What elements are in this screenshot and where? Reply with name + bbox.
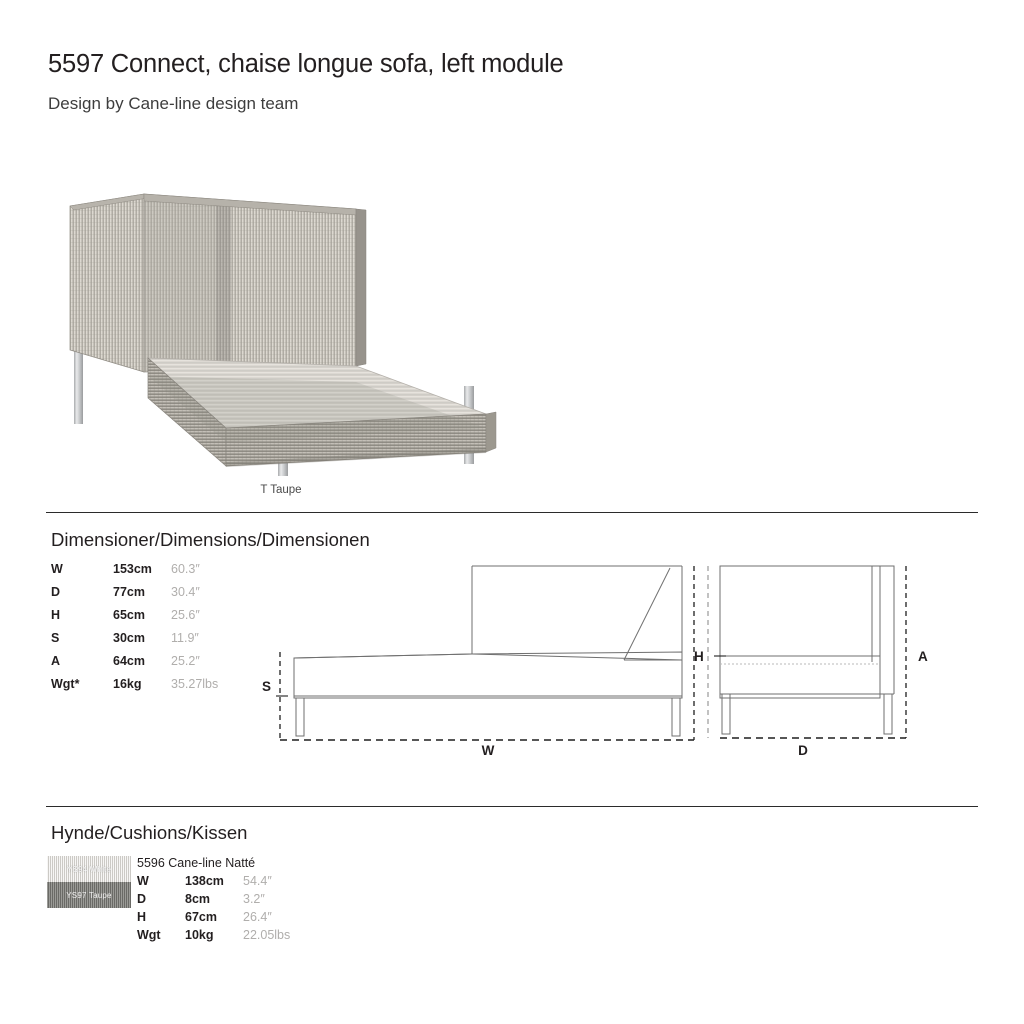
dimension-letter-w: W (482, 743, 495, 758)
dimension-imperial: 25.6″ (171, 604, 218, 627)
table-row: S 30cm 11.9″ (51, 627, 218, 650)
cushion-dimensions-table: W 138cm 54.4″ D 8cm 3.2″ H 67cm 26.4″ Wg… (137, 872, 290, 944)
dimension-key: Wgt* (51, 673, 113, 696)
cushion-model-name: 5596 Cane-line Natté (137, 856, 255, 870)
technical-drawings: S W H A D (262, 548, 962, 763)
dimension-imperial: 25.2″ (171, 650, 218, 673)
cushion-metric: 10kg (185, 926, 243, 944)
page-subtitle: Design by Cane-line design team (48, 94, 298, 114)
table-row: W 153cm 60.3″ (51, 558, 218, 581)
table-row: D 8cm 3.2″ (137, 890, 290, 908)
sofa-leg (74, 346, 83, 424)
swatch-label: YS94 White (67, 865, 111, 874)
dimension-letter-h: H (694, 649, 704, 664)
chaise-longue-sofa-photo (56, 176, 506, 476)
cushion-key: W (137, 872, 185, 890)
dimension-key: H (51, 604, 113, 627)
dimension-imperial: 11.9″ (171, 627, 218, 650)
cushion-swatches: YS94 White YS97 Taupe (47, 856, 131, 908)
table-row: Wgt* 16kg 35.27lbs (51, 673, 218, 696)
table-row: H 65cm 25.6″ (51, 604, 218, 627)
dimension-imperial: 35.27lbs (171, 673, 218, 696)
cushion-key: Wgt (137, 926, 185, 944)
cushions-heading: Hynde/Cushions/Kissen (51, 822, 247, 844)
table-row: Wgt 10kg 22.05lbs (137, 926, 290, 944)
drawing-side-view (276, 566, 694, 740)
dimension-metric: 65cm (113, 604, 171, 627)
table-row: W 138cm 54.4″ (137, 872, 290, 890)
cushion-key: H (137, 908, 185, 926)
page-title: 5597 Connect, chaise longue sofa, left m… (48, 50, 564, 79)
cushion-imperial: 26.4″ (243, 908, 290, 926)
cushion-metric: 67cm (185, 908, 243, 926)
swatch-ys94-white[interactable]: YS94 White (47, 856, 131, 882)
dimension-metric: 153cm (113, 558, 171, 581)
cushion-key: D (137, 890, 185, 908)
cushion-imperial: 3.2″ (243, 890, 290, 908)
dimension-metric: 30cm (113, 627, 171, 650)
cushion-imperial: 22.05lbs (243, 926, 290, 944)
table-row: A 64cm 25.2″ (51, 650, 218, 673)
cushion-imperial: 54.4″ (243, 872, 290, 890)
product-spec-sheet: 5597 Connect, chaise longue sofa, left m… (0, 0, 1024, 1024)
photo-caption: T Taupe (56, 484, 506, 496)
dimension-letter-d: D (798, 743, 808, 758)
swatch-label: YS97 Taupe (66, 891, 111, 900)
dimension-imperial: 60.3″ (171, 558, 218, 581)
swatch-ys97-taupe[interactable]: YS97 Taupe (47, 882, 131, 908)
dimension-key: D (51, 581, 113, 604)
table-row: D 77cm 30.4″ (51, 581, 218, 604)
dimension-letter-s: S (262, 679, 271, 694)
dimensions-table: W 153cm 60.3″ D 77cm 30.4″ H 65cm 25.6″ … (51, 558, 218, 696)
dimension-metric: 16kg (113, 673, 171, 696)
dimension-letter-a: A (918, 649, 928, 664)
divider-dimensions (46, 512, 978, 513)
dimension-key: A (51, 650, 113, 673)
dimension-metric: 64cm (113, 650, 171, 673)
dimension-key: W (51, 558, 113, 581)
cushion-metric: 138cm (185, 872, 243, 890)
divider-cushions (46, 806, 978, 807)
product-photo (56, 176, 506, 476)
table-row: H 67cm 26.4″ (137, 908, 290, 926)
dimension-metric: 77cm (113, 581, 171, 604)
drawing-end-view (708, 566, 906, 738)
dimension-key: S (51, 627, 113, 650)
sofa-left-armrest (70, 194, 144, 372)
dimension-imperial: 30.4″ (171, 581, 218, 604)
cushion-metric: 8cm (185, 890, 243, 908)
